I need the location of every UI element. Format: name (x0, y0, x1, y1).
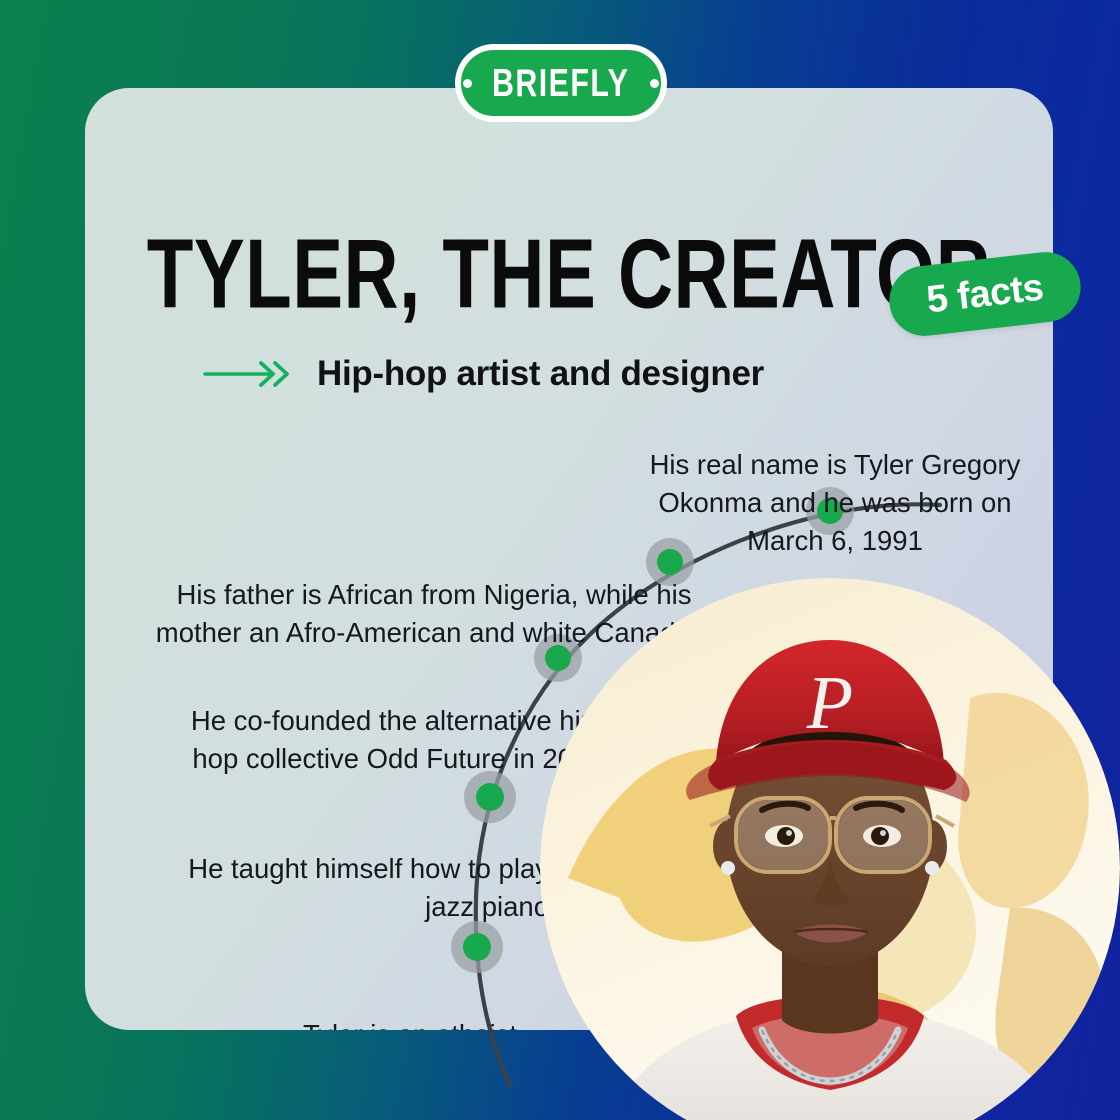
infographic-poster: TYLER, THE CREATOR Hip-hop artist and de… (0, 0, 1120, 1120)
facts-count-label: 5 facts (924, 266, 1045, 322)
fact-item: His real name is Tyler Gregory Okonma an… (633, 446, 1037, 560)
fact-item: Tyler is an atheist (225, 1016, 517, 1030)
bullet-dot-icon (650, 79, 659, 88)
page-title: TYLER, THE CREATOR (119, 226, 1019, 324)
brand-logo[interactable]: BRIEFLY (455, 44, 667, 122)
fact-item: He co-founded the alternative hip- hop c… (181, 702, 615, 778)
fact-item: He taught himself how to play jazz piano (165, 850, 549, 926)
brand-name: BRIEFLY (492, 61, 629, 106)
subtitle-row: Hip-hop artist and designer (203, 354, 764, 394)
subtitle: Hip-hop artist and designer (317, 354, 764, 394)
svg-text:P: P (806, 661, 853, 745)
double-chevron-right-arrow-icon (203, 359, 299, 389)
fact-item: His father is African from Nigeria, whil… (143, 576, 725, 652)
bullet-dot-icon (463, 79, 472, 88)
